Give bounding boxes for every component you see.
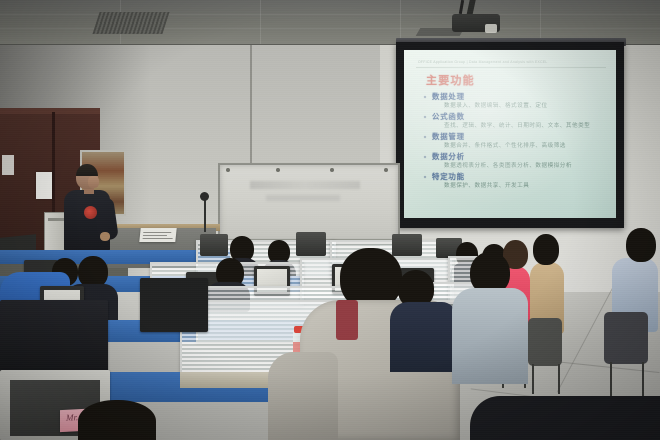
projector-lens-icon bbox=[485, 24, 497, 33]
cabinet-top-edge bbox=[0, 108, 100, 114]
whiteboard-writing-secondary bbox=[266, 195, 340, 201]
presenter-shirt-logo bbox=[84, 206, 97, 219]
whiteboard-writing bbox=[250, 181, 360, 189]
posted-notice bbox=[36, 172, 52, 199]
ceiling-vent bbox=[92, 12, 169, 34]
lanyard bbox=[336, 300, 358, 340]
monitor-back bbox=[296, 232, 326, 256]
podium-papers bbox=[139, 228, 176, 242]
presenter-face bbox=[88, 176, 99, 188]
presenter-hand bbox=[100, 232, 110, 241]
microphone-icon bbox=[200, 192, 209, 201]
monitor-back bbox=[392, 234, 422, 256]
projection-screen: OFFICE Application Group | Data Manageme… bbox=[404, 50, 616, 218]
posted-notice-secondary bbox=[2, 155, 14, 175]
monitor-foreground bbox=[140, 278, 208, 332]
classroom-photo: OFFICE Application Group | Data Manageme… bbox=[0, 0, 660, 440]
screen-tint bbox=[404, 50, 616, 218]
monitor-back bbox=[200, 234, 228, 256]
microphone-stand bbox=[204, 198, 206, 232]
